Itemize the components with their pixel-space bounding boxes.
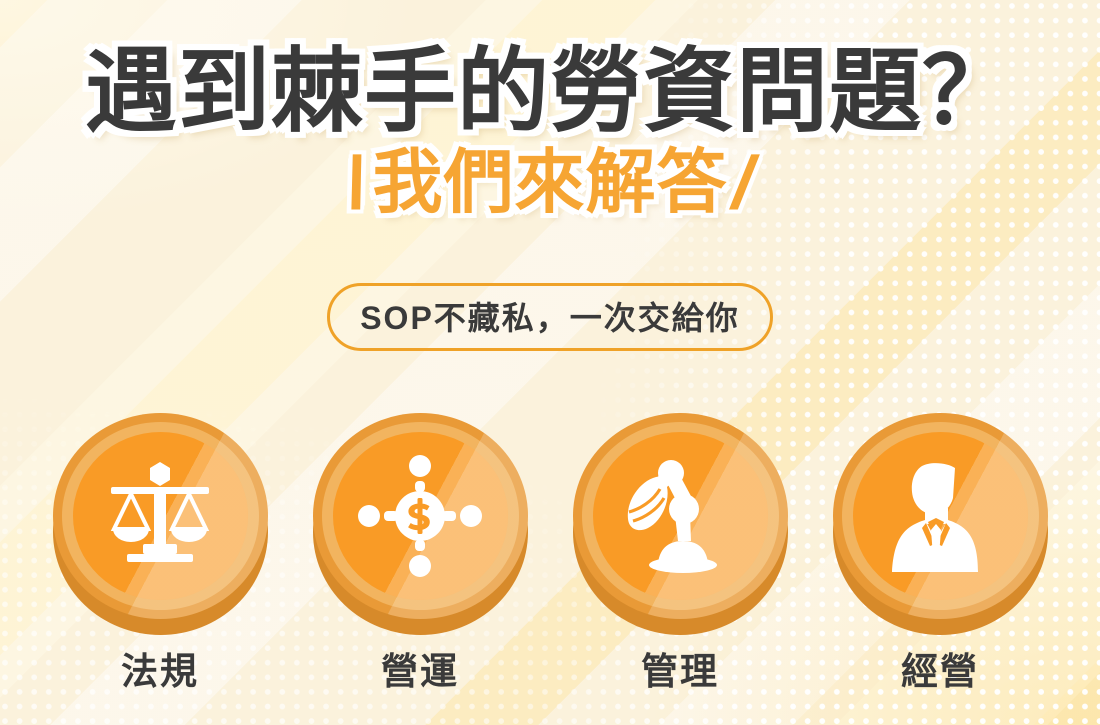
coin-badge <box>833 413 1048 635</box>
category-label: 經營 <box>901 653 979 690</box>
category-coin-row: 法規 <box>0 413 1100 690</box>
scales-of-justice-icon <box>73 432 248 600</box>
subtitle-badge: SOP不藏私，一次交給你 <box>327 283 773 351</box>
subheadline-row: \ 我們來解答 / <box>0 146 1100 220</box>
desk-lamp-icon <box>593 432 768 600</box>
category-label: 管理 <box>641 653 719 690</box>
category-item-regulations[interactable]: 法規 <box>53 413 268 690</box>
coin-badge <box>573 413 788 635</box>
businessman-icon <box>853 432 1028 600</box>
banner-canvas: 遇到棘手的勞資問題？ \ 我們來解答 / SOP不藏私，一次交給你 <box>0 0 1100 725</box>
coin-badge <box>53 413 268 635</box>
page-title: 遇到棘手的勞資問題？ <box>0 46 1100 140</box>
page-subtitle: 我們來解答 <box>373 146 728 220</box>
category-item-operations[interactable]: 營運 <box>313 413 528 690</box>
right-slash-decoration: / <box>726 146 762 220</box>
headline-block: 遇到棘手的勞資問題？ \ 我們來解答 / <box>0 46 1100 220</box>
category-item-management[interactable]: 管理 <box>573 413 788 690</box>
category-label: 法規 <box>121 653 199 690</box>
category-label: 營運 <box>381 653 459 690</box>
money-network-icon <box>333 432 508 600</box>
left-slash-decoration: \ <box>338 146 374 220</box>
category-item-business[interactable]: 經營 <box>833 413 1048 690</box>
coin-badge <box>313 413 528 635</box>
subtitle-pill-row: SOP不藏私，一次交給你 <box>0 283 1100 351</box>
